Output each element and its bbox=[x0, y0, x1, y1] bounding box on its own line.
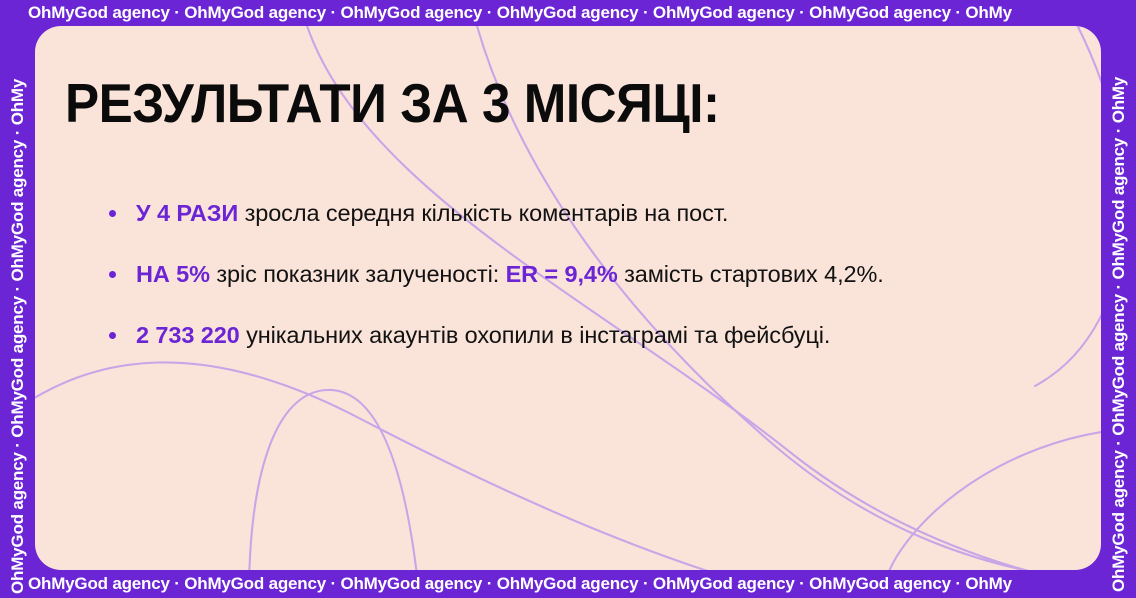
marquee-left-text: OhMyGod agency · OhMyGod agency · OhMyGo… bbox=[0, 0, 35, 598]
panel-content: РЕЗУЛЬТАТИ ЗА 3 МІСЯЦІ: У 4 РАЗИ зросла … bbox=[35, 26, 1101, 570]
bullet-highlight: У 4 РАЗИ bbox=[136, 200, 238, 226]
marquee-bottom-text: OhMyGod agency · OhMyGod agency · OhMyGo… bbox=[28, 574, 1012, 593]
bullet-dot-icon bbox=[109, 210, 116, 217]
bullet-text: зріс показник залученості: bbox=[210, 261, 506, 287]
bullet-text-secondary: замість стартових 4,2%. bbox=[618, 261, 884, 287]
marquee-left: OhMyGod agency · OhMyGod agency · OhMyGo… bbox=[0, 0, 35, 598]
slide-root: OhMyGod agency · OhMyGod agency · OhMyGo… bbox=[0, 0, 1136, 598]
marquee-top: OhMyGod agency · OhMyGod agency · OhMyGo… bbox=[0, 0, 1136, 26]
page-title: РЕЗУЛЬТАТИ ЗА 3 МІСЯЦІ: bbox=[65, 74, 720, 132]
marquee-top-text: OhMyGod agency · OhMyGod agency · OhMyGo… bbox=[28, 3, 1012, 22]
list-item: НА 5% зріс показник залученості: ER = 9,… bbox=[107, 259, 1067, 290]
bullet-text: унікальних акаунтів охопили в інстаграмі… bbox=[240, 322, 831, 348]
bullet-dot-icon bbox=[109, 332, 116, 339]
marquee-bottom: OhMyGod agency · OhMyGod agency · OhMyGo… bbox=[0, 570, 1136, 598]
bullet-highlight-secondary: ER = 9,4% bbox=[506, 261, 618, 287]
list-item: 2 733 220 унікальних акаунтів охопили в … bbox=[107, 320, 1067, 351]
results-list: У 4 РАЗИ зросла середня кількість комент… bbox=[107, 198, 1067, 351]
content-panel: РЕЗУЛЬТАТИ ЗА 3 МІСЯЦІ: У 4 РАЗИ зросла … bbox=[35, 26, 1101, 570]
bullet-dot-icon bbox=[109, 271, 116, 278]
bullet-highlight: 2 733 220 bbox=[136, 322, 240, 348]
bullet-text: зросла середня кількість коментарів на п… bbox=[238, 200, 728, 226]
marquee-right: OhMyGod agency · OhMyGod agency · OhMyGo… bbox=[1101, 0, 1136, 598]
list-item: У 4 РАЗИ зросла середня кількість комент… bbox=[107, 198, 1067, 229]
bullet-highlight: НА 5% bbox=[136, 261, 210, 287]
marquee-right-text: OhMyGod agency · OhMyGod agency · OhMyGo… bbox=[1101, 0, 1136, 598]
